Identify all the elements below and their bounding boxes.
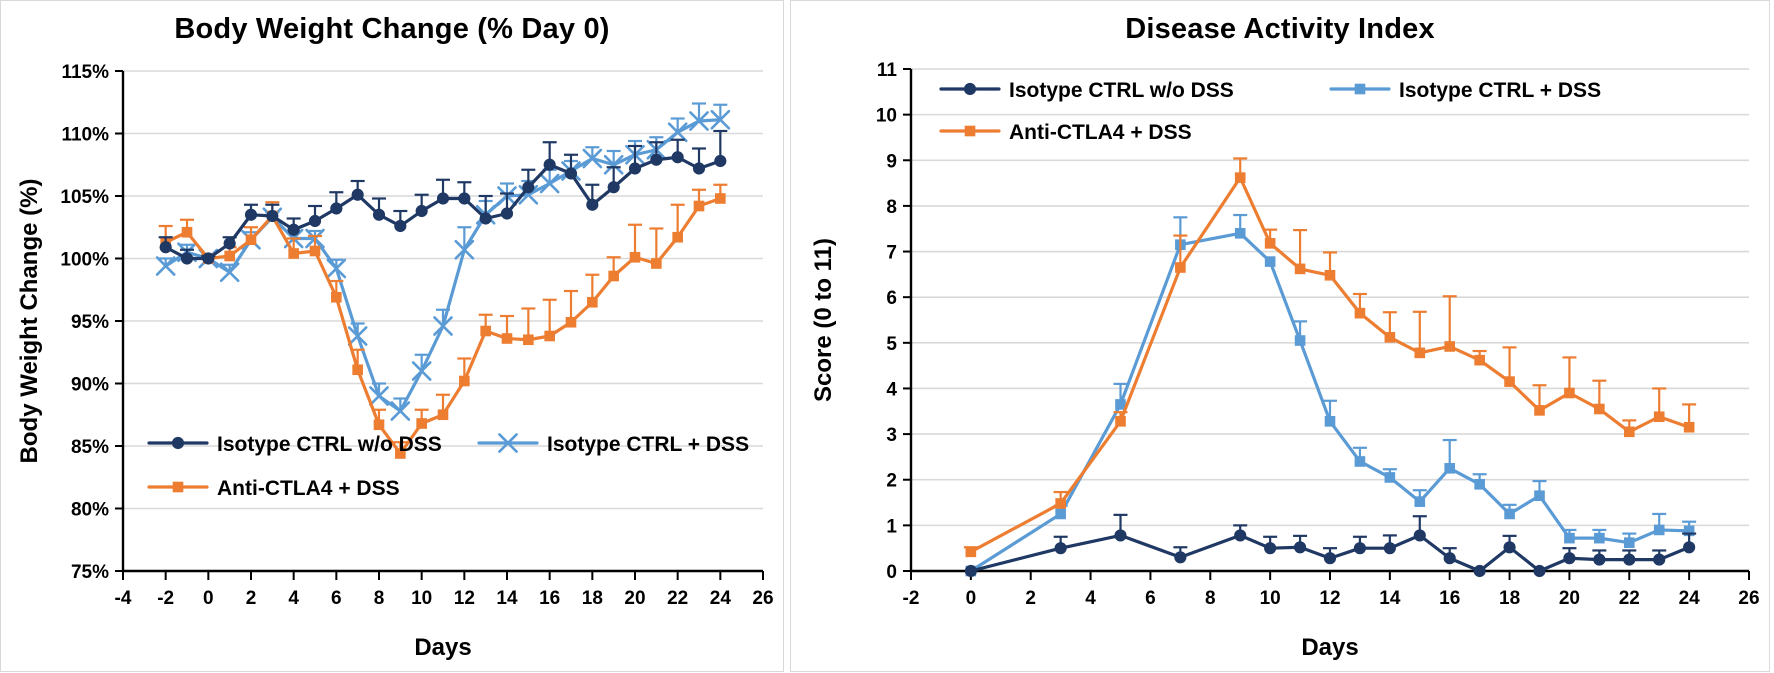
data-point-marker bbox=[1534, 490, 1545, 501]
data-point-marker bbox=[1444, 463, 1455, 474]
data-point-marker bbox=[1564, 553, 1575, 564]
series-isotype-ctrl-w-o-dss bbox=[965, 515, 1696, 577]
data-point-marker bbox=[1115, 416, 1126, 427]
data-point-marker bbox=[160, 242, 171, 253]
legend-item[interactable]: Isotype CTRL w/o DSS bbox=[149, 433, 442, 456]
x-axis-tick-label: 4 bbox=[1085, 588, 1096, 609]
x-axis-tick-label: 26 bbox=[1738, 588, 1759, 609]
panel-body-weight: Body Weight Change (% Day 0) 75%80%85%90… bbox=[0, 0, 784, 672]
legend-item[interactable]: Isotype CTRL w/o DSS bbox=[941, 79, 1234, 102]
data-point-marker bbox=[1534, 565, 1545, 576]
y-axis-tick-label: 6 bbox=[886, 288, 897, 309]
data-point-marker bbox=[1684, 422, 1695, 433]
x-axis-tick-label: 0 bbox=[966, 588, 977, 609]
x-axis-tick-label: 14 bbox=[1379, 588, 1401, 609]
y-axis-tick-label: 1 bbox=[886, 516, 897, 537]
data-point-marker bbox=[502, 333, 513, 344]
data-point-marker bbox=[310, 246, 321, 257]
x-axis-tick-label: 18 bbox=[582, 588, 603, 609]
axes: 75%80%85%90%95%100%105%110%115%-4-202468… bbox=[60, 62, 773, 609]
data-point-marker bbox=[181, 253, 192, 264]
data-point-marker bbox=[1235, 172, 1246, 183]
x-axis-tick-label: 8 bbox=[374, 588, 385, 609]
data-point-marker bbox=[587, 199, 598, 210]
data-point-marker bbox=[1265, 543, 1276, 554]
data-point-marker bbox=[331, 203, 342, 214]
x-axis-tick-label: 14 bbox=[496, 588, 518, 609]
data-point-marker bbox=[459, 193, 470, 204]
data-point-marker bbox=[1235, 228, 1246, 239]
y-axis-tick-label: 115% bbox=[61, 62, 109, 83]
data-point-marker bbox=[480, 326, 491, 337]
series-anti-ctla4-dss bbox=[964, 158, 1696, 557]
data-point-marker bbox=[373, 209, 384, 220]
data-point-marker bbox=[587, 297, 598, 308]
data-point-marker bbox=[416, 205, 427, 216]
data-point-marker bbox=[966, 547, 977, 558]
data-point-marker bbox=[267, 210, 278, 221]
data-point-marker bbox=[352, 364, 363, 375]
data-point-marker bbox=[416, 418, 427, 429]
data-point-marker bbox=[1684, 542, 1695, 553]
x-axis-tick-label: 10 bbox=[1260, 588, 1281, 609]
data-point-marker bbox=[1295, 335, 1306, 346]
y-axis-tick-label: 11 bbox=[877, 60, 898, 81]
data-point-marker bbox=[965, 126, 976, 137]
x-axis-tick-label: -4 bbox=[115, 588, 132, 609]
data-point-marker bbox=[715, 155, 726, 166]
data-point-marker bbox=[1504, 509, 1515, 520]
data-point-marker bbox=[1235, 530, 1246, 541]
x-axis-tick-label: 8 bbox=[1205, 588, 1216, 609]
data-point-marker bbox=[1534, 405, 1545, 416]
x-axis-tick-label: 2 bbox=[246, 588, 257, 609]
data-point-marker bbox=[1325, 270, 1336, 281]
data-point-marker bbox=[715, 193, 726, 204]
data-point-marker bbox=[1624, 554, 1635, 565]
data-point-marker bbox=[1055, 543, 1066, 554]
chart-svg-body-weight: 75%80%85%90%95%100%105%110%115%-4-202468… bbox=[1, 1, 785, 673]
data-point-marker bbox=[1654, 554, 1665, 565]
x-axis-tick-label: 16 bbox=[539, 588, 560, 609]
data-point-marker bbox=[459, 376, 470, 387]
y-axis-tick-label: 95% bbox=[71, 312, 109, 333]
data-point-marker bbox=[1624, 537, 1635, 548]
data-point-marker bbox=[438, 409, 449, 420]
y-axis-tick-label: 4 bbox=[886, 379, 897, 400]
data-point-marker bbox=[1624, 426, 1635, 437]
data-point-marker bbox=[288, 224, 299, 235]
x-axis-tick-label: -2 bbox=[157, 588, 174, 609]
x-axis-tick-label: -2 bbox=[903, 588, 920, 609]
y-axis-tick-label: 0 bbox=[886, 562, 897, 583]
data-point-marker bbox=[965, 565, 976, 576]
data-point-marker bbox=[1654, 525, 1665, 536]
data-point-marker bbox=[1324, 553, 1335, 564]
x-axis-tick-label: 0 bbox=[203, 588, 214, 609]
data-point-marker bbox=[203, 253, 214, 264]
data-point-marker bbox=[523, 334, 534, 345]
data-point-marker bbox=[1355, 308, 1366, 319]
data-point-marker bbox=[1444, 553, 1455, 564]
data-point-marker bbox=[1414, 496, 1425, 507]
y-axis-tick-label: 80% bbox=[71, 500, 109, 521]
y-axis-tick-label: 85% bbox=[71, 437, 109, 458]
data-point-marker bbox=[1564, 533, 1575, 544]
y-axis-tick-label: 10 bbox=[876, 106, 897, 127]
y-axis-tick-label: 75% bbox=[71, 562, 109, 583]
legend-label: Anti-CTLA4 + DSS bbox=[1009, 121, 1192, 144]
data-point-marker bbox=[1115, 530, 1126, 541]
data-point-marker bbox=[1444, 341, 1455, 352]
data-point-marker bbox=[1594, 554, 1605, 565]
data-point-marker bbox=[1504, 542, 1515, 553]
y-axis-tick-label: 7 bbox=[886, 243, 897, 264]
data-point-marker bbox=[172, 437, 183, 448]
legend-item[interactable]: Isotype CTRL + DSS bbox=[479, 433, 749, 456]
legend-label: Isotype CTRL w/o DSS bbox=[217, 433, 442, 456]
x-axis-tick-label: 22 bbox=[667, 588, 688, 609]
data-point-marker bbox=[1474, 479, 1485, 490]
y-axis-tick-label: 8 bbox=[886, 197, 897, 218]
legend-item[interactable]: Anti-CTLA4 + DSS bbox=[149, 477, 400, 500]
series-isotype-ctrl-dss bbox=[157, 104, 729, 420]
data-point-marker bbox=[1295, 264, 1306, 275]
y-axis-tick-label: 5 bbox=[886, 334, 897, 355]
data-point-marker bbox=[1384, 543, 1395, 554]
data-point-marker bbox=[1654, 411, 1665, 422]
y-axis-tick-label: 90% bbox=[71, 375, 109, 396]
legend-label: Isotype CTRL w/o DSS bbox=[1009, 79, 1234, 102]
data-point-marker bbox=[1564, 388, 1575, 399]
data-point-marker bbox=[245, 209, 256, 220]
data-point-marker bbox=[480, 213, 491, 224]
legend-item[interactable]: Anti-CTLA4 + DSS bbox=[941, 121, 1192, 144]
data-point-marker bbox=[173, 482, 184, 493]
chart-title-disease-activity: Disease Activity Index bbox=[791, 13, 1769, 46]
y-axis-tick-label: 110% bbox=[61, 125, 109, 146]
x-axis-tick-label: 12 bbox=[1319, 588, 1340, 609]
x-axis-tick-label: 4 bbox=[288, 588, 299, 609]
chart-legend: Isotype CTRL w/o DSSIsotype CTRL + DSSAn… bbox=[149, 433, 749, 500]
data-point-marker bbox=[224, 238, 235, 249]
data-point-marker bbox=[1594, 404, 1605, 415]
x-axis-tick-label: 10 bbox=[411, 588, 432, 609]
x-axis-tick-label: 18 bbox=[1499, 588, 1520, 609]
y-axis-title: Body Weight Change (%) bbox=[16, 179, 43, 464]
data-point-marker bbox=[224, 251, 235, 262]
chart-legend: Isotype CTRL w/o DSSIsotype CTRL + DSSAn… bbox=[941, 79, 1601, 144]
legend-label: Isotype CTRL + DSS bbox=[1399, 79, 1601, 102]
x-axis-tick-label: 6 bbox=[1145, 588, 1156, 609]
data-point-marker bbox=[246, 234, 257, 245]
data-point-marker bbox=[309, 215, 320, 226]
data-point-marker bbox=[1265, 256, 1276, 267]
x-axis-tick-label: 2 bbox=[1025, 588, 1036, 609]
data-point-marker bbox=[1355, 84, 1366, 95]
y-axis-title: Score (0 to 11) bbox=[810, 238, 837, 402]
data-point-marker bbox=[693, 163, 704, 174]
data-point-marker bbox=[629, 163, 640, 174]
data-point-marker bbox=[651, 258, 662, 269]
x-axis-tick-label: 24 bbox=[710, 588, 732, 609]
panel-disease-activity: Disease Activity Index 01234567891011-20… bbox=[790, 0, 1770, 672]
data-point-marker bbox=[566, 317, 577, 328]
series-line bbox=[971, 178, 1689, 552]
data-point-marker bbox=[395, 220, 406, 231]
data-point-marker bbox=[1354, 543, 1365, 554]
x-axis-tick-label: 12 bbox=[454, 588, 475, 609]
data-point-marker bbox=[672, 232, 683, 243]
data-point-marker bbox=[1414, 348, 1425, 359]
data-point-marker bbox=[964, 83, 975, 94]
y-axis-tick-label: 3 bbox=[886, 425, 897, 446]
data-point-marker bbox=[1175, 262, 1186, 273]
gridlines bbox=[911, 69, 1749, 571]
x-axis-tick-label: 20 bbox=[624, 588, 645, 609]
y-axis-tick-label: 9 bbox=[886, 151, 897, 172]
data-point-marker bbox=[1055, 498, 1066, 509]
data-point-marker bbox=[501, 208, 512, 219]
x-axis-tick-label: 6 bbox=[331, 588, 342, 609]
data-point-marker bbox=[608, 182, 619, 193]
data-point-marker bbox=[352, 189, 363, 200]
data-point-marker bbox=[651, 154, 662, 165]
x-axis-title: Days bbox=[1301, 634, 1358, 661]
y-axis-tick-label: 2 bbox=[886, 471, 897, 492]
data-point-marker bbox=[1265, 238, 1276, 249]
data-point-marker bbox=[1175, 552, 1186, 563]
legend-label: Isotype CTRL + DSS bbox=[547, 433, 749, 456]
figure-container: Body Weight Change (% Day 0) 75%80%85%90… bbox=[0, 0, 1774, 672]
x-axis-tick-label: 22 bbox=[1619, 588, 1640, 609]
data-point-marker bbox=[1294, 542, 1305, 553]
chart-svg-disease-activity: 01234567891011-202468101214161820222426D… bbox=[791, 1, 1771, 673]
data-point-marker bbox=[523, 182, 534, 193]
data-point-marker bbox=[437, 193, 448, 204]
data-point-marker bbox=[1594, 533, 1605, 544]
x-axis-tick-label: 20 bbox=[1559, 588, 1580, 609]
data-point-marker bbox=[288, 248, 299, 259]
x-axis-title: Days bbox=[414, 634, 471, 661]
chart-title-body-weight: Body Weight Change (% Day 0) bbox=[1, 13, 783, 46]
data-point-marker bbox=[1414, 530, 1425, 541]
y-axis-tick-label: 105% bbox=[60, 187, 109, 208]
data-point-marker bbox=[608, 271, 619, 282]
data-point-marker bbox=[331, 292, 342, 303]
y-axis-tick-label: 100% bbox=[60, 250, 109, 271]
data-point-marker bbox=[694, 201, 705, 212]
data-point-marker bbox=[672, 152, 683, 163]
x-axis-tick-label: 26 bbox=[752, 588, 773, 609]
data-point-marker bbox=[1504, 376, 1515, 387]
data-point-marker bbox=[1474, 355, 1485, 366]
data-point-marker bbox=[182, 227, 193, 238]
data-point-marker bbox=[1474, 565, 1485, 576]
data-point-marker bbox=[1385, 472, 1396, 483]
x-axis-tick-label: 24 bbox=[1679, 588, 1701, 609]
data-point-marker bbox=[565, 168, 576, 179]
data-point-marker bbox=[1325, 416, 1336, 427]
data-point-marker bbox=[1355, 456, 1366, 467]
data-point-marker bbox=[374, 419, 385, 430]
data-point-marker bbox=[544, 331, 555, 342]
data-point-marker bbox=[630, 252, 641, 263]
data-point-marker bbox=[1385, 332, 1396, 343]
legend-label: Anti-CTLA4 + DSS bbox=[217, 477, 400, 500]
x-axis-tick-label: 16 bbox=[1439, 588, 1460, 609]
data-point-marker bbox=[544, 159, 555, 170]
data-point-marker bbox=[1055, 509, 1066, 520]
legend-item[interactable]: Isotype CTRL + DSS bbox=[1331, 79, 1601, 102]
